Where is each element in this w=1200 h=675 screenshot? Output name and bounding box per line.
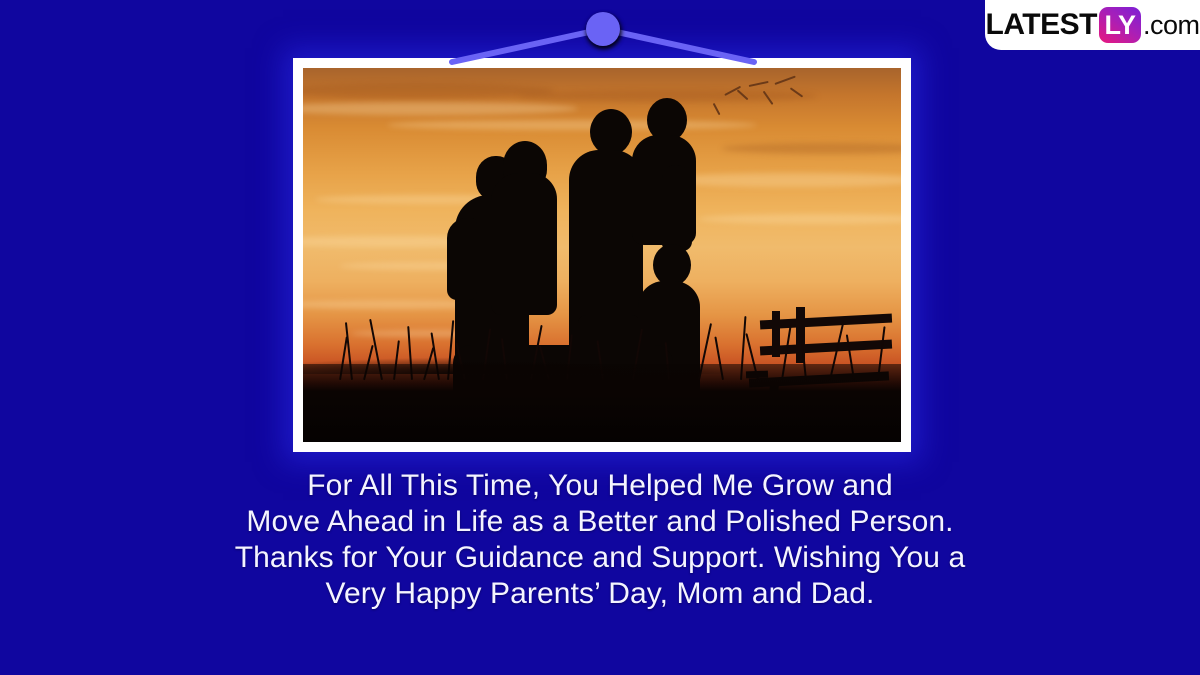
logo-ly-badge: LY: [1099, 7, 1141, 43]
silhouette-child-left-body: [491, 173, 557, 315]
cloud-streak: [662, 173, 901, 187]
twig-icon: [748, 81, 768, 87]
logo-dotcom: .com: [1143, 10, 1200, 41]
logo-word: LATEST: [986, 10, 1097, 40]
hanging-knob-icon: [586, 12, 620, 46]
greeting-card-canvas: LATEST LY .com For All This Time, You He…: [0, 0, 1200, 675]
twig-icon: [775, 76, 796, 85]
latestly-logo[interactable]: LATEST LY .com: [985, 0, 1200, 50]
photo-frame: [293, 58, 911, 452]
cloud-streak: [722, 143, 901, 154]
sunset-family-photo: [303, 68, 901, 442]
silhouette-child-right-head: [653, 244, 691, 286]
silhouette-parent-center-head: [590, 109, 632, 155]
silhouette-shoulder-arm: [662, 165, 692, 251]
greeting-message: For All This Time, You Helped Me Grow an…: [0, 468, 1200, 612]
message-line-1: For All This Time, You Helped Me Grow an…: [0, 468, 1200, 504]
cloud-streak: [387, 120, 758, 130]
message-line-2: Move Ahead in Life as a Better and Polis…: [0, 504, 1200, 540]
silhouette-parent-left-shoulder: [447, 218, 477, 300]
cloud-streak: [698, 214, 901, 224]
twig-icon: [713, 103, 721, 115]
cloud-streak: [303, 102, 578, 115]
cloud-streak: [303, 83, 554, 99]
ground-silhouette: [303, 364, 901, 442]
message-line-3: Thanks for Your Guidance and Support. Wi…: [0, 540, 1200, 576]
message-line-4: Very Happy Parents’ Day, Mom and Dad.: [0, 576, 1200, 612]
